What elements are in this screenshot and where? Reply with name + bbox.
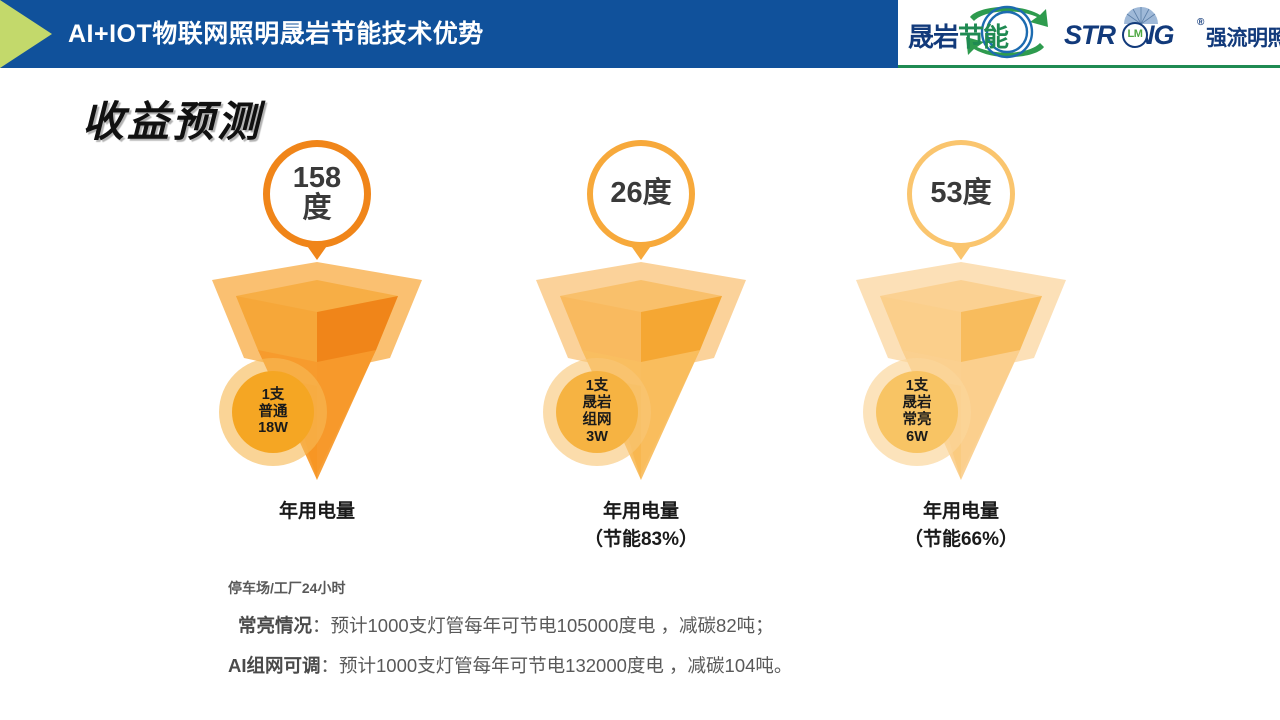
- badge-label: 1支 晟岩 组网 3W: [543, 358, 651, 466]
- brand-logo-panel: 晟岩节能 STRONG LM ® 强流明照明: [898, 0, 1280, 68]
- funnel-caption: 年用电量: [197, 498, 437, 526]
- pin-value-label: 53度: [907, 140, 1015, 248]
- footnote-label-ai: AI组网可调: [228, 655, 321, 676]
- strong-logo-chinese: 强流明照明: [1206, 22, 1280, 52]
- funnel-caption: 年用电量 （节能83%）: [521, 498, 761, 553]
- badge-bubble: 1支 普通 18W: [219, 358, 327, 466]
- pin-marker: 158 度: [263, 140, 371, 272]
- pin-marker: 53度: [907, 140, 1015, 272]
- slide-header: AI+IOT物联网照明晟岩节能技术优势 晟岩节能: [0, 0, 1280, 68]
- footnote-label-always-on: 常亮情况: [238, 615, 312, 636]
- strong-logo-word: STRONG: [1064, 20, 1174, 51]
- pin-marker: 26度: [587, 140, 695, 272]
- funnel-group-ordinary: 158 度 1支 普通 18W 年用电量: [197, 140, 437, 560]
- badge-bubble: 1支 晟岩 组网 3W: [543, 358, 651, 466]
- pin-value-label: 158 度: [263, 140, 371, 248]
- registered-mark-icon: ®: [1197, 17, 1204, 28]
- funnel-group-always-on: 53度 1支 晟岩 常亮 6W 年用电量 （节能66%）: [841, 140, 1081, 560]
- footnotes-block: 停车场/工厂24小时 常亮情况：预计1000支灯管每年可节电105000度电 ，…: [228, 578, 1048, 678]
- shengyan-logo-text: 晟岩节能: [908, 17, 1008, 54]
- strong-logo: STRONG LM ® 强流明照明: [1064, 6, 1278, 62]
- badge-label: 1支 晟岩 常亮 6W: [863, 358, 971, 466]
- funnel-group-networked: 26度 1支 晟岩 组网 3W 年用电量 （节能83%）: [521, 140, 761, 560]
- footnote-body-always-on: ：预计1000支灯管每年可节电105000度电 ，减碳82吨；: [312, 615, 774, 636]
- shengyan-logo: 晟岩节能: [902, 4, 1060, 62]
- footnote-body-ai: ：预计1000支灯管每年可节电132000度电 ，减碳104吨。: [321, 655, 793, 676]
- strong-logo-o-circle: LM: [1122, 22, 1148, 48]
- badge-bubble: 1支 晟岩 常亮 6W: [863, 358, 971, 466]
- badge-label: 1支 普通 18W: [219, 358, 327, 466]
- footnote-line-always-on: 常亮情况：预计1000支灯管每年可节电105000度电 ，减碳82吨；: [228, 612, 1048, 638]
- header-title: AI+IOT物联网照明晟岩节能技术优势: [68, 0, 484, 68]
- footnote-line-ai: AI组网可调：预计1000支灯管每年可节电132000度电 ，减碳104吨。: [228, 652, 1048, 678]
- pin-value-label: 26度: [587, 140, 695, 248]
- footnote-scenario: 停车场/工厂24小时: [228, 578, 1048, 598]
- funnel-caption: 年用电量 （节能66%）: [841, 498, 1081, 553]
